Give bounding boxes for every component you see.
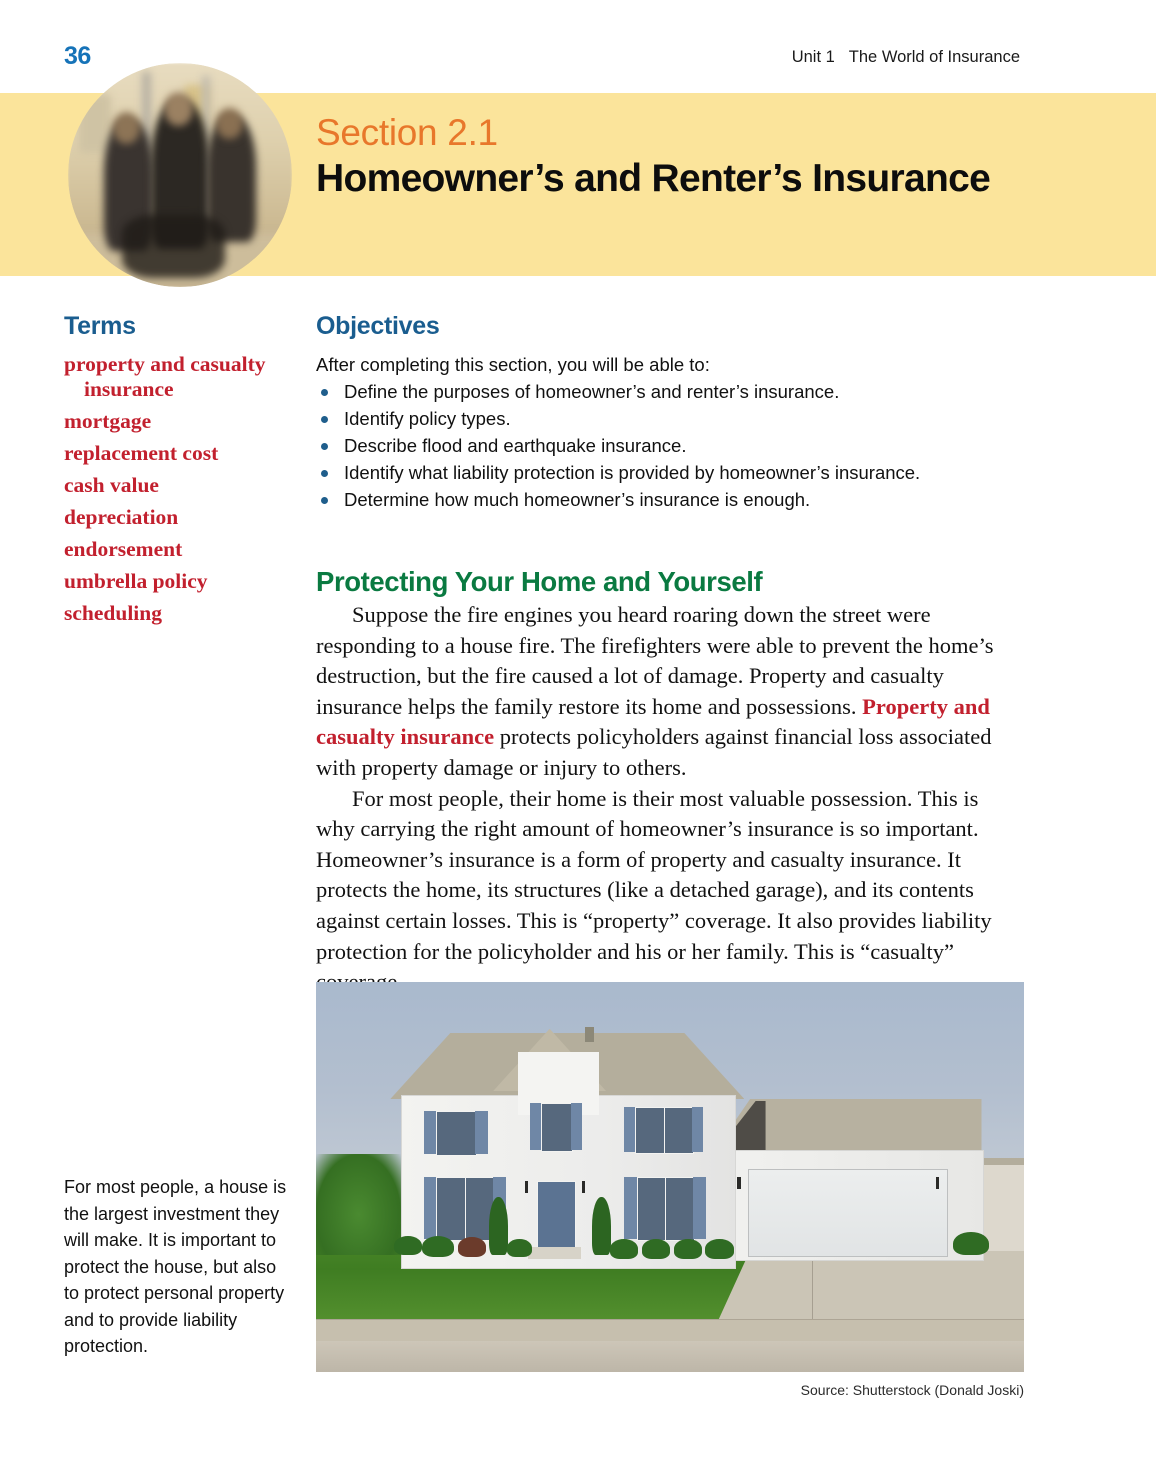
- body-copy: Suppose the fire engines you heard roari…: [316, 600, 1022, 998]
- terms-heading: Terms: [64, 312, 136, 341]
- running-head-title: The World of Insurance: [849, 48, 1020, 66]
- term-label: umbrella policy: [64, 569, 208, 593]
- term-label: replacement cost: [64, 441, 218, 465]
- term-item: mortgage: [64, 409, 302, 434]
- term-item: endorsement: [64, 537, 302, 562]
- term-label-cont: insurance: [64, 377, 302, 402]
- objective-item: Describe flood and earthquake insurance.: [316, 432, 1036, 459]
- running-head-unit: Unit 1: [792, 48, 835, 66]
- section-label: Section 2.1: [316, 112, 498, 154]
- term-item: umbrella policy: [64, 569, 302, 594]
- photo-caption: For most people, a house is the largest …: [64, 1174, 289, 1360]
- objective-item: Determine how much homeowner’s insurance…: [316, 486, 1036, 513]
- term-item: scheduling: [64, 601, 302, 626]
- body-heading: Protecting Your Home and Yourself: [316, 566, 762, 598]
- term-item: depreciation: [64, 505, 302, 530]
- photo-source-credit: Source: Shutterstock (Donald Joski): [801, 1382, 1024, 1398]
- term-label: depreciation: [64, 505, 178, 529]
- running-head: Unit 1The World of Insurance: [792, 48, 1020, 67]
- body-paragraph-1: Suppose the fire engines you heard roari…: [316, 600, 1022, 784]
- term-label: cash value: [64, 473, 159, 497]
- term-item: replacement cost: [64, 441, 302, 466]
- objectives-heading: Objectives: [316, 312, 439, 341]
- objective-item: Identify policy types.: [316, 405, 1036, 432]
- term-label: endorsement: [64, 537, 182, 561]
- term-item: cash value: [64, 473, 302, 498]
- term-label: property and casualty: [64, 352, 265, 376]
- term-label: mortgage: [64, 409, 151, 433]
- objectives-list: Define the purposes of homeowner’s and r…: [316, 378, 1036, 513]
- terms-list: property and casualty insurance mortgage…: [64, 352, 302, 633]
- objectives-intro: After completing this section, you will …: [316, 352, 710, 377]
- section-title: Homeowner’s and Renter’s Insurance: [316, 157, 990, 201]
- term-item: property and casualty insurance: [64, 352, 302, 402]
- two-story-white-house-with-attached-garage: [316, 982, 1024, 1372]
- body-paragraph-2: For most people, their home is their mos…: [316, 784, 1022, 998]
- objective-item: Identify what liability protection is pr…: [316, 459, 1036, 486]
- people-in-office-photo: [68, 63, 292, 287]
- objective-item: Define the purposes of homeowner’s and r…: [316, 378, 1036, 405]
- term-label: scheduling: [64, 601, 162, 625]
